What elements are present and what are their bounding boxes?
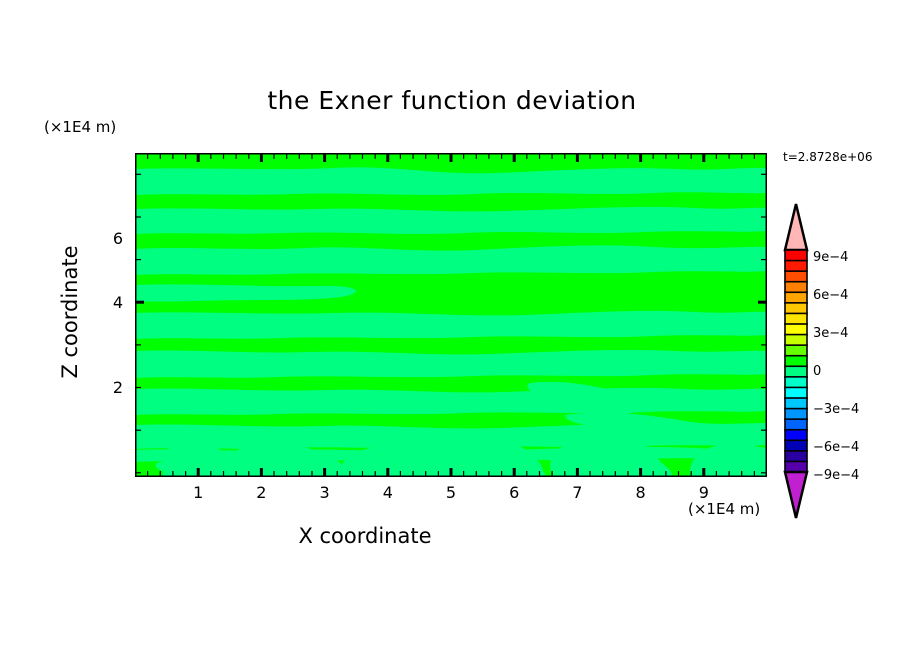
x-tick-label: 3: [310, 483, 340, 502]
colorbar-segment: [785, 292, 807, 303]
colorbar-segment: [785, 377, 807, 388]
y-tick-label: 6: [93, 229, 123, 248]
colorbar-segment: [785, 440, 807, 451]
x-axis-unit-label: (×1E4 m): [688, 500, 760, 518]
colorbar-segment: [785, 356, 807, 367]
colorbar-segment: [785, 366, 807, 377]
colorbar-segment: [785, 398, 807, 409]
x-tick-label: 8: [626, 483, 656, 502]
colorbar-segment: [785, 313, 807, 324]
colorbar-label: 6e−4: [813, 288, 848, 303]
y-tick-label: 4: [93, 293, 123, 312]
x-axis-title: X coordinate: [0, 524, 730, 548]
colorbar-segment: [785, 282, 807, 293]
colorbar-segment: [785, 387, 807, 398]
colorbar-segment: [785, 345, 807, 356]
colorbar-segment: [785, 335, 807, 346]
colorbar-segment: [785, 409, 807, 420]
colorbar-segment: [785, 419, 807, 430]
colorbar-segment: [785, 303, 807, 314]
colorbar-label: 9e−4: [813, 250, 848, 265]
colorbar-segment: [785, 430, 807, 441]
colorbar-label: −9e−4: [813, 468, 859, 483]
x-tick-label: 2: [246, 483, 276, 502]
page-title: the Exner function deviation: [0, 86, 904, 115]
y-tick-label: 2: [93, 378, 123, 397]
contour-field: [135, 153, 767, 477]
timestamp-annotation: t=2.8728e+06: [783, 150, 872, 164]
colorbar-label: −3e−4: [813, 402, 859, 417]
contour-plot-area: 1 2 3 4 5 6 7 8 9 2 4 6: [135, 153, 767, 477]
colorbar-gradient: [783, 203, 809, 521]
colorbar-segment: [785, 271, 807, 282]
colorbar-label: −6e−4: [813, 440, 859, 455]
x-tick-label: 4: [373, 483, 403, 502]
x-tick-label: 6: [499, 483, 529, 502]
colorbar-segment: [785, 261, 807, 272]
x-tick-label: 1: [183, 483, 213, 502]
colorbar-segment: [785, 324, 807, 335]
x-tick-label: 5: [436, 483, 466, 502]
colorbar-label: 3e−4: [813, 326, 848, 341]
x-tick-label: 7: [562, 483, 592, 502]
y-axis-unit-label: (×1E4 m): [44, 118, 116, 136]
colorbar: 9e−4 6e−4 3e−4 0 −3e−4 −6e−4 −9e−4: [783, 203, 903, 521]
colorbar-label: 0: [813, 364, 821, 379]
y-axis-title: Z coordinate: [58, 182, 82, 442]
colorbar-segment: [785, 250, 807, 261]
colorbar-segment: [785, 451, 807, 462]
